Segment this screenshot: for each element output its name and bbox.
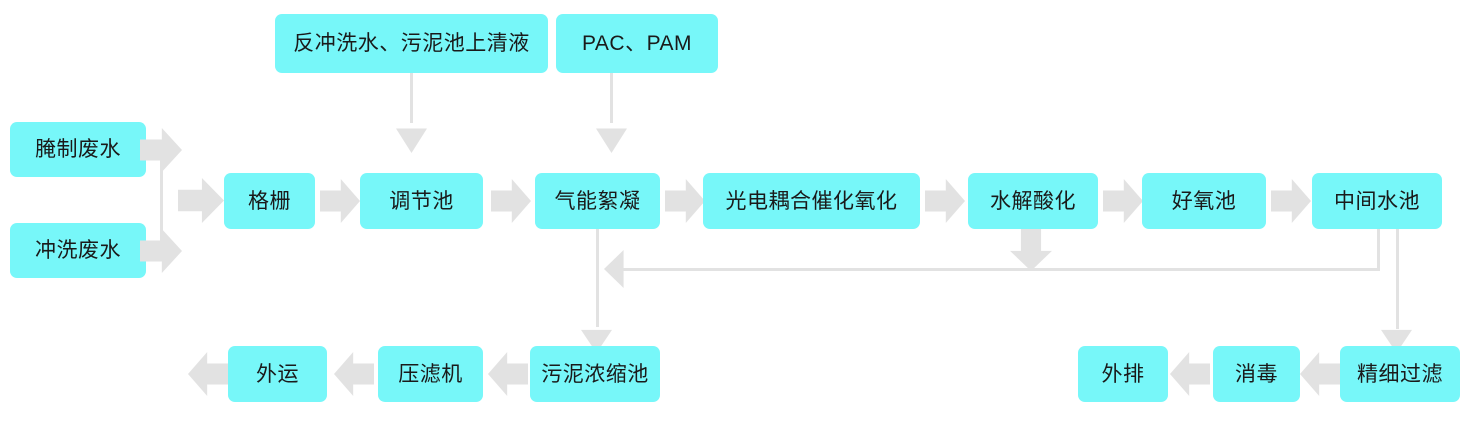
arrowhead-backwash-down (396, 118, 427, 153)
node-backwash-supernatant[interactable]: 反冲洗水、污泥池上清液 (275, 14, 548, 73)
node-label: 外排 (1102, 364, 1145, 385)
node-discharge[interactable]: 外排 (1078, 346, 1168, 402)
arrow-hydrolysis-sludge-down (1010, 229, 1052, 271)
node-transport-out[interactable]: 外运 (228, 346, 327, 402)
connector-flocculation-to-sludge (596, 229, 599, 327)
node-label: 精细过滤 (1357, 364, 1443, 385)
node-label: 压滤机 (398, 364, 463, 385)
arrow-merge-to-grid (178, 178, 224, 223)
arrowhead-pacpam-down (596, 118, 627, 153)
node-label: 好氧池 (1172, 191, 1237, 212)
node-rinse-wastewater[interactable]: 冲洗废水 (10, 223, 146, 278)
arrow-filterpress-to-transport (334, 352, 374, 396)
node-grid[interactable]: 格栅 (224, 173, 315, 229)
connector-recycle-horizontal (620, 268, 1380, 271)
connector-intermediate-to-filtration (1396, 229, 1399, 329)
arrow-disinfection-to-discharge (1170, 352, 1210, 396)
arrow-regulating-to-flocculation (491, 179, 531, 223)
arrow-transport-out-final (188, 352, 228, 396)
node-intermediate-tank[interactable]: 中间水池 (1312, 173, 1442, 229)
arrow-flocculation-to-oxidation (665, 179, 705, 223)
node-hydrolytic-acidification[interactable]: 水解酸化 (968, 173, 1098, 229)
arrow-thickener-to-filterpress (488, 352, 528, 396)
arrow-grid-to-regulating (320, 179, 360, 223)
arrow-aerobic-to-intermediate (1271, 179, 1311, 223)
node-pac-pam[interactable]: PAC、PAM (556, 14, 718, 73)
node-label: 光电耦合催化氧化 (726, 191, 898, 212)
node-label: 腌制废水 (35, 139, 121, 160)
node-label: 水解酸化 (990, 191, 1076, 212)
node-label: 调节池 (389, 191, 454, 212)
connector-merge-vertical (160, 149, 163, 251)
node-label: 反冲洗水、污泥池上清液 (293, 33, 530, 54)
node-photoelectric-oxidation[interactable]: 光电耦合催化氧化 (703, 173, 920, 229)
node-aerobic-tank[interactable]: 好氧池 (1142, 173, 1266, 229)
node-label: 气能絮凝 (555, 191, 641, 212)
node-label: 污泥浓缩池 (541, 364, 649, 385)
node-label: 格栅 (248, 191, 291, 212)
node-pickling-wastewater[interactable]: 腌制废水 (10, 122, 146, 177)
flow-diagram-canvas: 反冲洗水、污泥池上清液 PAC、PAM 腌制废水 冲洗废水 格栅 调节池 气能絮… (0, 0, 1480, 444)
node-label: 外运 (256, 364, 299, 385)
connector-pacpam-to-flocculation (610, 73, 613, 123)
node-label: 消毒 (1235, 364, 1278, 385)
arrow-hydrolysis-to-aerobic (1103, 179, 1143, 223)
node-label: 中间水池 (1334, 191, 1420, 212)
connector-merge-top (160, 149, 163, 152)
node-sludge-thickener[interactable]: 污泥浓缩池 (530, 346, 660, 402)
arrow-oxidation-to-hydrolysis (925, 179, 965, 223)
node-filter-press[interactable]: 压滤机 (378, 346, 483, 402)
node-regulating-tank[interactable]: 调节池 (360, 173, 483, 229)
connector-recycle-down (1377, 229, 1380, 271)
node-gas-flocculation[interactable]: 气能絮凝 (535, 173, 660, 229)
connector-merge-bottom (160, 249, 163, 252)
node-label: PAC、PAM (582, 33, 692, 54)
arrow-filtration-to-disinfection (1300, 352, 1340, 396)
connector-backwash-to-regulating (410, 73, 413, 123)
node-disinfection[interactable]: 消毒 (1213, 346, 1300, 402)
node-fine-filtration[interactable]: 精细过滤 (1340, 346, 1460, 402)
node-label: 冲洗废水 (35, 240, 121, 261)
